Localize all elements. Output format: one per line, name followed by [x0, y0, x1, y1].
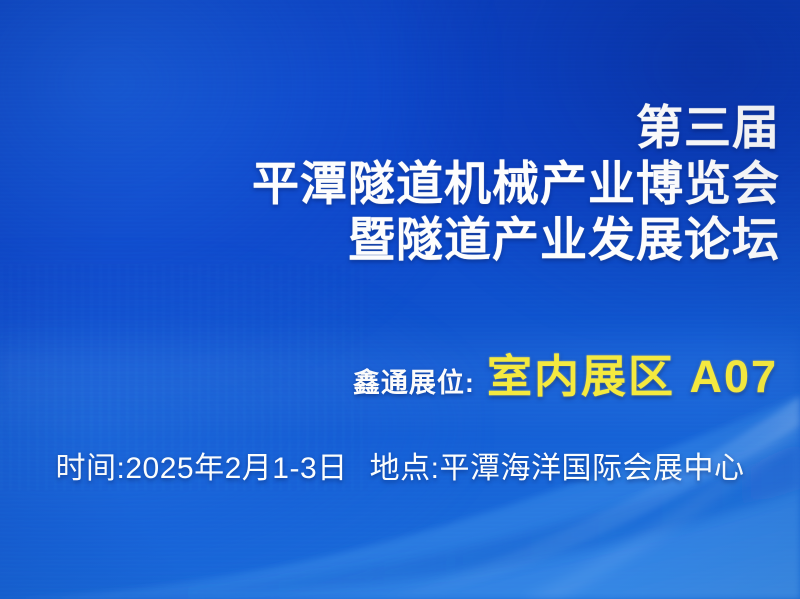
booth-info-row: 鑫通展位: 室内展区 A07 — [353, 340, 778, 405]
event-title-block: 第三届 平潭隧道机械产业博览会 暨隧道产业发展论坛 — [20, 104, 780, 263]
title-line-edition: 第三届 — [20, 104, 780, 151]
event-date: 时间:2025年2月1-3日 — [56, 443, 348, 487]
title-line-forum: 暨隧道产业发展论坛 — [20, 216, 780, 263]
event-location: 地点:平潭海洋国际会展中心 — [370, 443, 745, 487]
content-layer: 第三届 平潭隧道机械产业博览会 暨隧道产业发展论坛 鑫通展位: 室内展区 A07… — [0, 0, 800, 599]
exhibition-banner: 第三届 平潭隧道机械产业博览会 暨隧道产业发展论坛 鑫通展位: 室内展区 A07… — [0, 0, 800, 599]
title-line-main: 平潭隧道机械产业博览会 — [20, 160, 780, 207]
booth-label: 鑫通展位: — [353, 361, 475, 400]
event-meta-row: 时间:2025年2月1-3日 地点:平潭海洋国际会展中心 — [0, 443, 800, 487]
booth-number: 室内展区 A07 — [487, 340, 778, 405]
